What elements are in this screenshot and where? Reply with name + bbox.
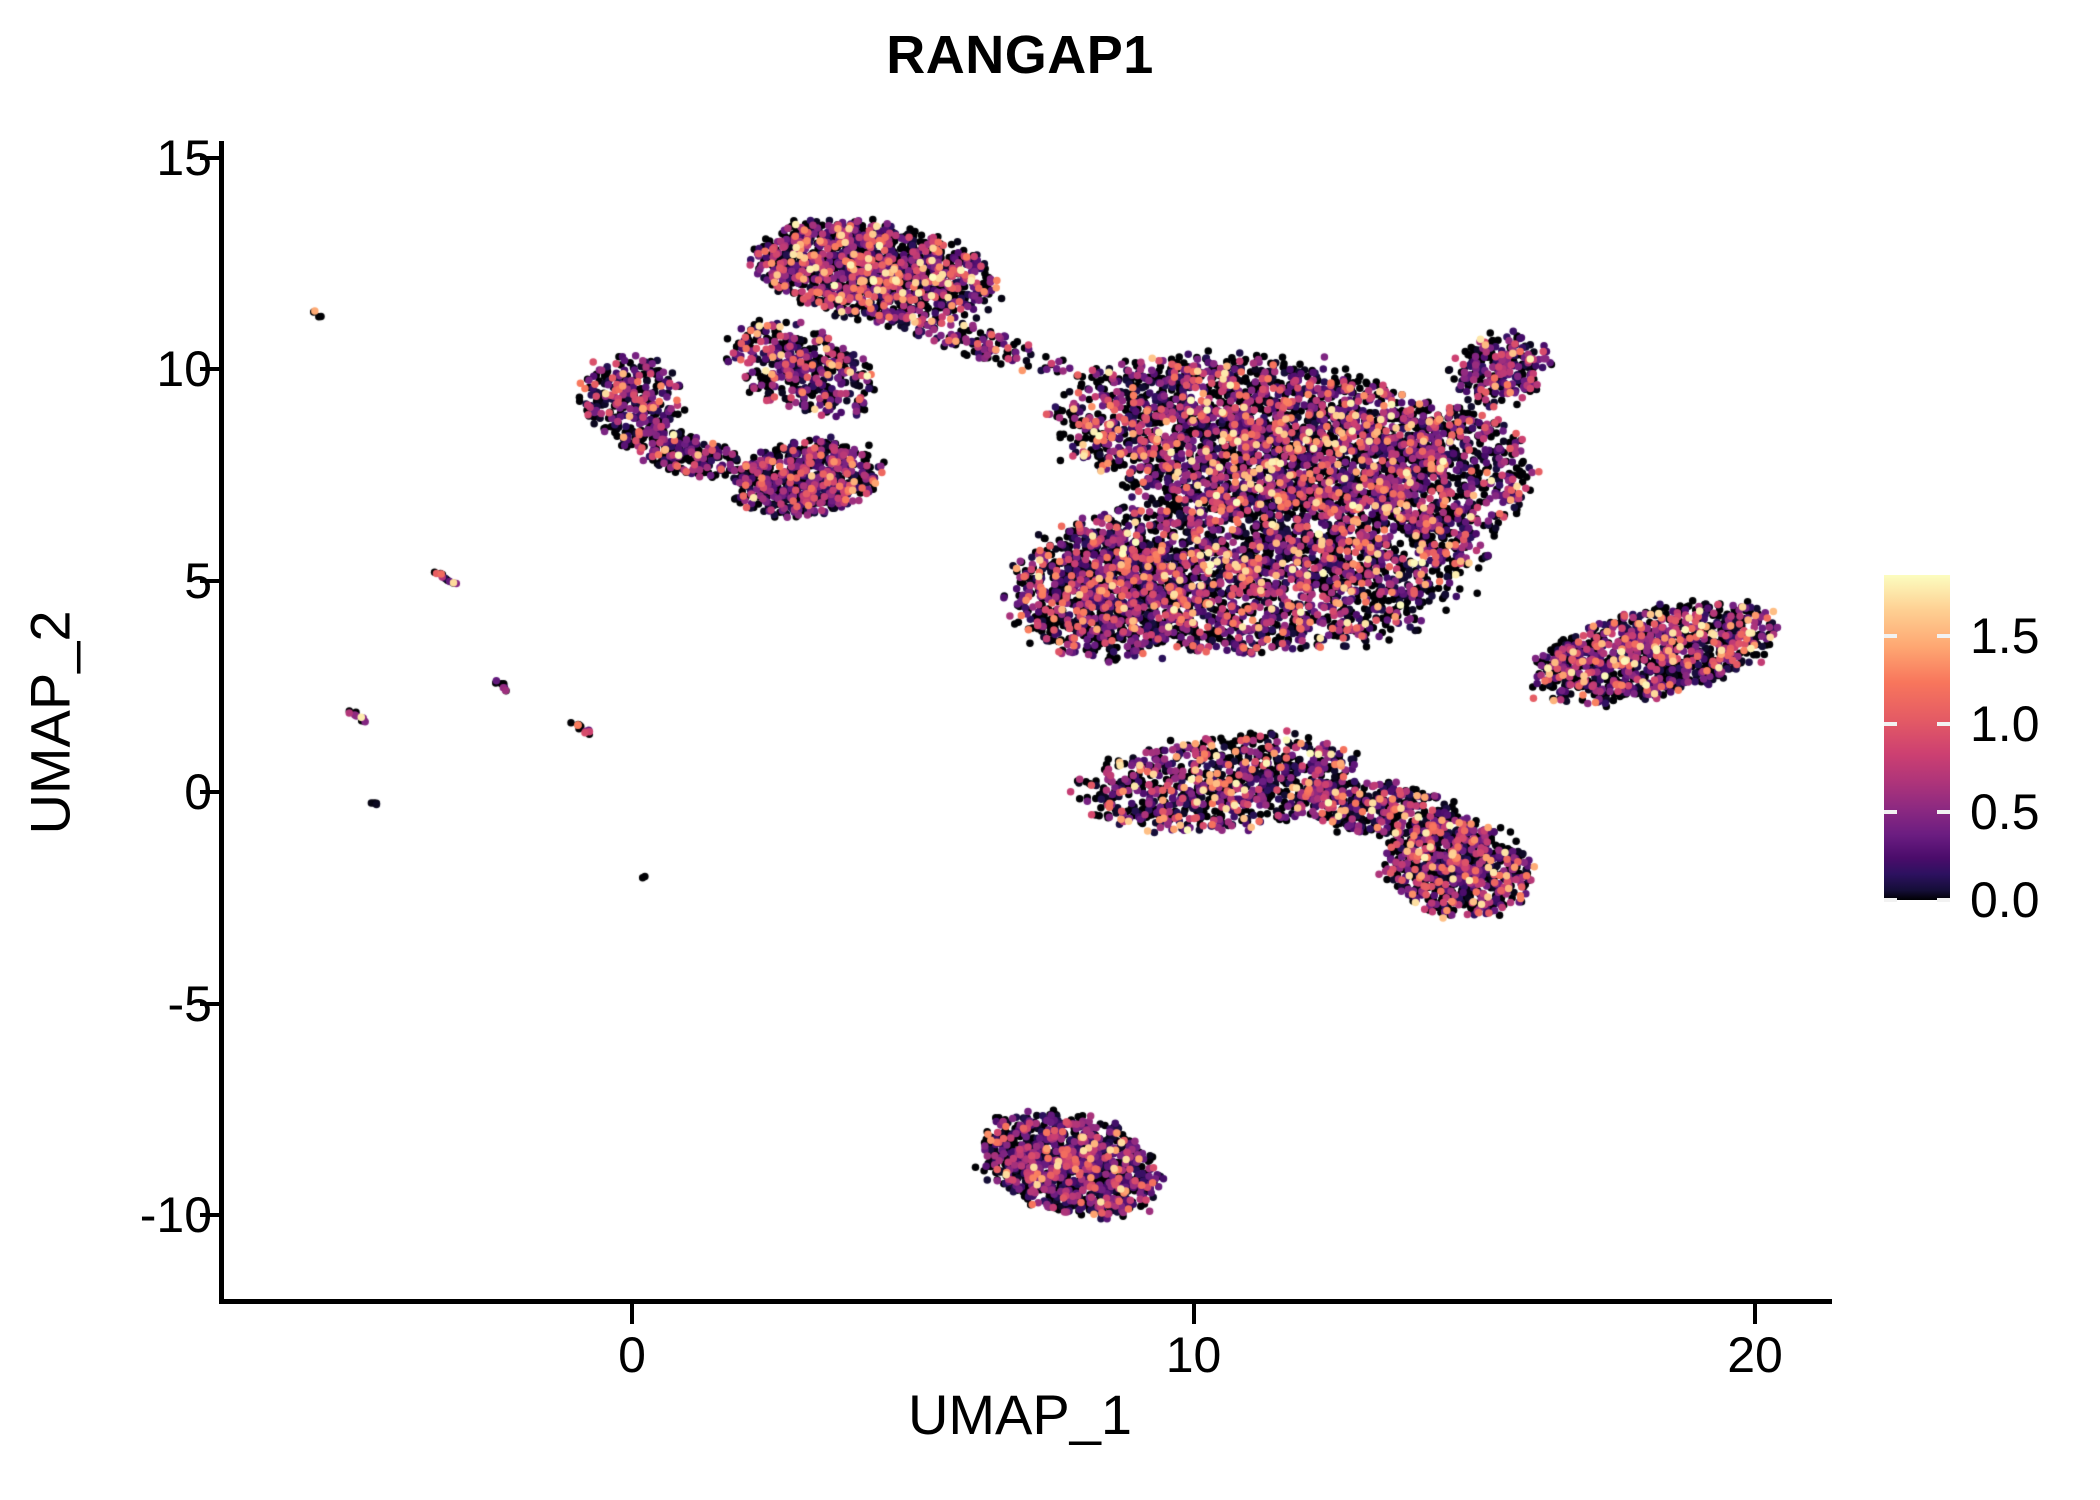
y-tick-label: -5 <box>168 979 212 1029</box>
x-tick-mark <box>1753 1304 1757 1324</box>
colorbar-tick-mark <box>1884 810 1897 814</box>
colorbar-tick-mark <box>1937 634 1950 638</box>
y-tick-label: 5 <box>184 556 212 606</box>
colorbar-tick-label: 0.0 <box>1970 875 2040 925</box>
colorbar-tick-mark <box>1884 898 1897 902</box>
y-tick-label: 15 <box>156 133 212 183</box>
x-tick-label: 0 <box>572 1330 692 1380</box>
x-tick-label: 10 <box>1134 1330 1254 1380</box>
y-tick-label: -10 <box>140 1190 212 1240</box>
colorbar-gradient <box>1884 575 1950 900</box>
y-tick-label: 10 <box>156 344 212 394</box>
x-tick-mark <box>1192 1304 1196 1324</box>
x-tick-label: 20 <box>1695 1330 1815 1380</box>
y-tick-label: 0 <box>184 767 212 817</box>
page-title: RANGAP1 <box>0 24 2040 86</box>
scatter-plot-panel <box>224 141 1832 1299</box>
colorbar-tick-mark <box>1937 810 1950 814</box>
colorbar-tick-mark <box>1884 722 1897 726</box>
colorbar-tick-label: 1.5 <box>1970 611 2040 661</box>
x-tick-mark <box>630 1304 634 1324</box>
colorbar-tick-mark <box>1937 898 1950 902</box>
scatter-points-canvas <box>224 141 1832 1299</box>
y-axis-title: UMAP_2 <box>18 373 83 1073</box>
colorbar-legend: 0.00.51.01.5 <box>1884 575 2084 905</box>
x-axis-title: UMAP_1 <box>0 1382 2040 1447</box>
colorbar-tick-mark <box>1884 634 1897 638</box>
colorbar-tick-mark <box>1937 722 1950 726</box>
colorbar-tick-label: 0.5 <box>1970 787 2040 837</box>
feature-plot-page: RANGAP1 -10-5051015 01020 UMAP_1 UMAP_2 … <box>0 0 2100 1500</box>
x-axis-line <box>219 1299 1832 1304</box>
colorbar-tick-label: 1.0 <box>1970 699 2040 749</box>
